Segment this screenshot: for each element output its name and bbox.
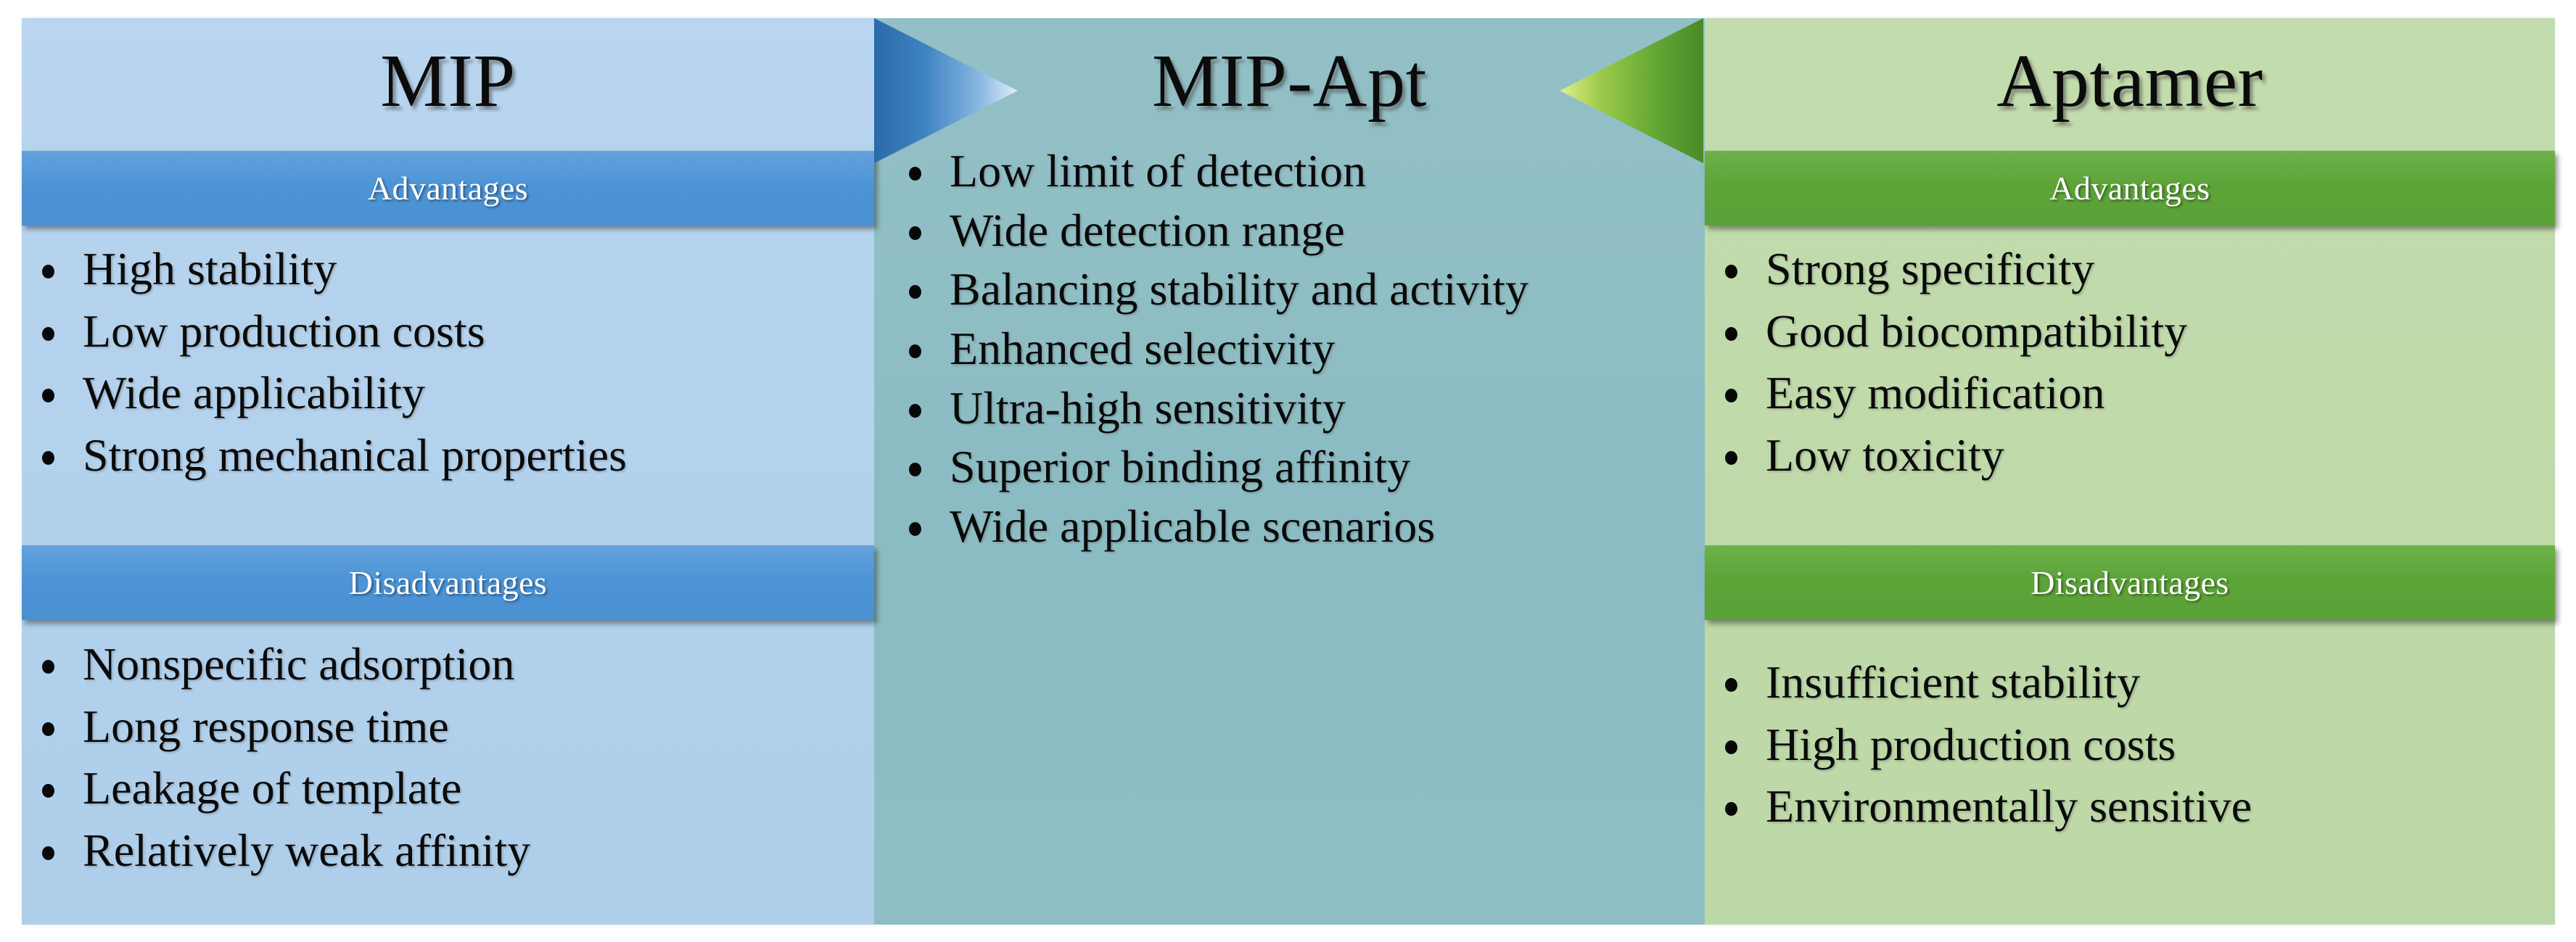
panel-mip: MIP Advantages High stability Low produc… — [22, 18, 874, 925]
list-item: Nonspecific adsorption — [29, 638, 867, 690]
list-item: Strong specificity — [1712, 243, 2548, 295]
list-item: High production costs — [1712, 719, 2548, 771]
mip-advantages-band: Advantages — [22, 151, 874, 226]
mip-disadvantages-label: Disadvantages — [349, 563, 547, 602]
list-item: Easy modification — [1712, 367, 2548, 419]
list-item: Insufficient stability — [1712, 656, 2548, 708]
aptamer-disadvantages-label: Disadvantages — [2030, 563, 2229, 602]
list-item: Leakage of template — [29, 762, 867, 814]
comparison-diagram: MIP Advantages High stability Low produc… — [0, 0, 2576, 942]
mip-disadvantages-list: Nonspecific adsorption Long response tim… — [29, 638, 867, 887]
mip-advantages-list: High stability Low production costs Wide… — [29, 243, 867, 492]
panel-mipapt-title: MIP-Apt — [874, 27, 1705, 136]
panel-aptamer: Aptamer Advantages Strong specificity Go… — [1705, 18, 2555, 925]
list-item: Relatively weak affinity — [29, 825, 867, 877]
list-item: Environmentally sensitive — [1712, 780, 2548, 832]
list-item: Balancing stability and activity — [896, 263, 1690, 315]
panel-mip-title: MIP — [22, 27, 874, 136]
panel-mipapt: MIP-Apt Low limit of detection Wide dete… — [874, 18, 1705, 925]
list-item: Wide detection range — [896, 204, 1690, 257]
mipapt-features-list: Low limit of detection Wide detection ra… — [896, 145, 1690, 560]
aptamer-disadvantages-list: Insufficient stability High production c… — [1712, 656, 2548, 843]
list-item: Low production costs — [29, 305, 867, 358]
list-item: Wide applicable scenarios — [896, 500, 1690, 553]
aptamer-disadvantages-band: Disadvantages — [1705, 545, 2555, 620]
list-item: Wide applicability — [29, 367, 867, 419]
aptamer-advantages-list: Strong specificity Good biocompatibility… — [1712, 243, 2548, 492]
list-item: Superior binding affinity — [896, 441, 1690, 493]
list-item: Long response time — [29, 701, 867, 753]
list-item: Low toxicity — [1712, 429, 2548, 482]
list-item: Good biocompatibility — [1712, 305, 2548, 358]
aptamer-advantages-label: Advantages — [2049, 169, 2210, 207]
list-item: Ultra-high sensitivity — [896, 382, 1690, 434]
list-item: Strong mechanical properties — [29, 429, 867, 482]
mip-disadvantages-band: Disadvantages — [22, 545, 874, 620]
mip-advantages-label: Advantages — [368, 169, 528, 207]
panel-aptamer-title: Aptamer — [1705, 27, 2555, 136]
list-item: Low limit of detection — [896, 145, 1690, 197]
list-item: Enhanced selectivity — [896, 323, 1690, 375]
list-item: High stability — [29, 243, 867, 295]
aptamer-advantages-band: Advantages — [1705, 151, 2555, 226]
